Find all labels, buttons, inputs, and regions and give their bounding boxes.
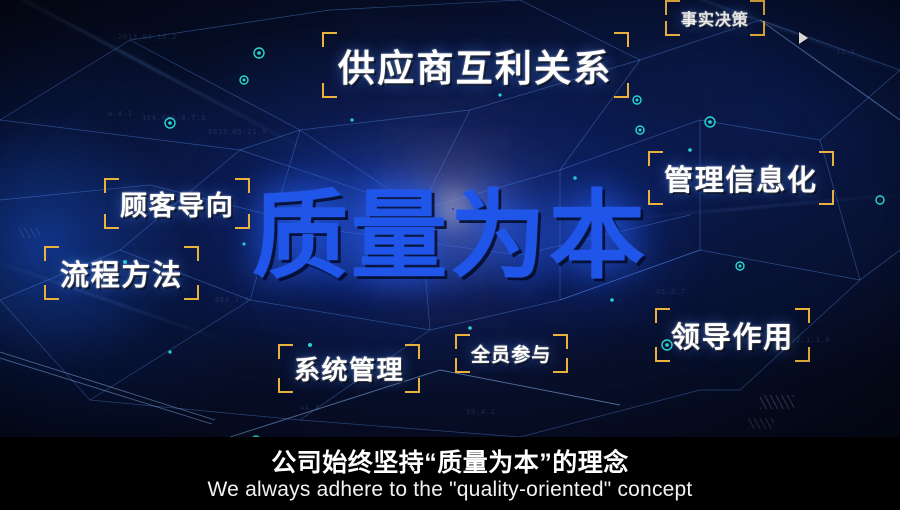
label-fact-based-decision: 事实决策 xyxy=(665,4,765,32)
label-text: 管理信息化 xyxy=(664,165,818,197)
light-streak xyxy=(0,0,336,166)
label-text: 领导作用 xyxy=(671,322,794,354)
label-text: 供应商互利关系 xyxy=(338,48,613,89)
background-marker: 4A.1 xyxy=(300,404,320,412)
subtitle-english: We always adhere to the "quality-oriente… xyxy=(0,478,900,502)
play-triangle-icon[interactable] xyxy=(799,32,808,44)
label-supplier-relationship: 供应商互利关系 xyxy=(322,36,629,94)
background-marker: 088.1.0 xyxy=(215,296,249,304)
background-marker: 2013_03_16.2 xyxy=(118,33,177,41)
subtitle-chinese: 公司始终坚持“质量为本”的理念 xyxy=(0,443,900,479)
background-marker: 2013.05.21.9 xyxy=(208,128,267,136)
background-marker: A.4.1 xyxy=(108,110,133,118)
hatch-decoration xyxy=(760,395,794,409)
label-text: 全员参与 xyxy=(471,345,552,366)
label-text: 事实决策 xyxy=(681,12,749,29)
hatch-decoration xyxy=(748,418,774,429)
label-leadership: 领导作用 xyxy=(655,312,810,358)
background-marker: 19.4.2 xyxy=(466,408,496,416)
label-customer-orientation: 顾客导向 xyxy=(104,182,250,225)
label-text: 顾客导向 xyxy=(120,191,234,221)
label-text: 流程方法 xyxy=(60,260,183,292)
label-full-participation: 全员参与 xyxy=(455,338,568,369)
label-system-management: 系统管理 xyxy=(278,348,420,389)
label-text: 系统管理 xyxy=(294,355,404,385)
subtitle-bar: 公司始终坚持“质量为本”的理念 We always adhere to the … xyxy=(0,437,900,510)
label-process-approach: 流程方法 xyxy=(44,250,199,296)
video-scene: 2013_03_16.2 104.055.8.T.3 2013.05.21.9 … xyxy=(0,0,900,437)
video-frame: 2013_03_16.2 104.055.8.T.3 2013.05.21.9 … xyxy=(0,0,900,510)
background-marker: 104.055.8.T.3 xyxy=(142,114,206,122)
background-marker: 11.4 xyxy=(836,48,856,56)
label-management-informatization: 管理信息化 xyxy=(648,155,834,201)
